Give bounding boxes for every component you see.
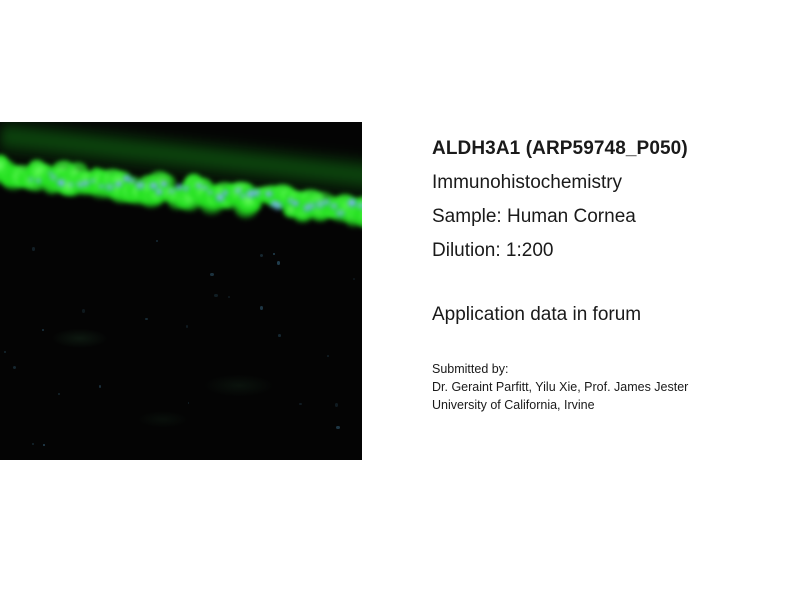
stroma-speckle bbox=[228, 296, 230, 298]
nucleus-dot bbox=[273, 202, 283, 211]
stroma-speckle bbox=[42, 329, 44, 331]
nucleus-dot bbox=[160, 181, 167, 188]
stroma-speckle bbox=[214, 294, 217, 297]
stroma-speckle bbox=[336, 426, 340, 430]
institution-name: University of California, Irvine bbox=[432, 396, 798, 414]
dilution-line: Dilution: 1:200 bbox=[432, 234, 798, 268]
stroma-speckle bbox=[335, 403, 339, 407]
stroma-speckle bbox=[58, 393, 60, 395]
stroma-speckle bbox=[13, 366, 16, 369]
submission-credit: Submitted by: Dr. Geraint Parfitt, Yilu … bbox=[432, 360, 798, 414]
stroma-speckle bbox=[99, 385, 102, 388]
stroma-speckle bbox=[32, 443, 34, 445]
author-names: Dr. Geraint Parfitt, Yilu Xie, Prof. Jam… bbox=[432, 378, 798, 396]
stroma-speckle bbox=[260, 306, 263, 309]
stroma-speckle bbox=[82, 309, 85, 312]
stroma-speckle bbox=[186, 325, 189, 328]
product-image-figure: ALDH3A1 (ARP59748_P050) Immunohistochemi… bbox=[0, 0, 800, 600]
stroma-speckle bbox=[145, 318, 147, 320]
antibody-info-block: ALDH3A1 (ARP59748_P050) Immunohistochemi… bbox=[432, 132, 798, 414]
nucleus-dot bbox=[135, 181, 145, 190]
nucleus-dot bbox=[252, 189, 261, 198]
stroma-speckle bbox=[327, 355, 329, 357]
nucleus-dot bbox=[28, 176, 35, 182]
stroma-speckle bbox=[4, 351, 6, 353]
nucleus-dot bbox=[183, 186, 189, 192]
stroma-speckle bbox=[299, 403, 302, 406]
green-stain-layer bbox=[0, 156, 362, 228]
nucleus-dot bbox=[129, 178, 136, 184]
method-line: Immunohistochemistry bbox=[432, 166, 798, 200]
immunofluorescence-micrograph bbox=[0, 122, 362, 460]
product-title: ALDH3A1 (ARP59748_P050) bbox=[432, 132, 798, 166]
stroma-speckle bbox=[43, 444, 45, 446]
stroma-speckle bbox=[188, 402, 190, 404]
sample-line: Sample: Human Cornea bbox=[432, 200, 798, 234]
corneal-epithelium-band bbox=[0, 156, 362, 286]
nucleus-dot bbox=[36, 178, 41, 183]
stroma-speckle bbox=[278, 334, 281, 337]
submitted-by-label: Submitted by: bbox=[432, 360, 798, 378]
forum-link-text[interactable]: Application data in forum bbox=[432, 298, 798, 332]
